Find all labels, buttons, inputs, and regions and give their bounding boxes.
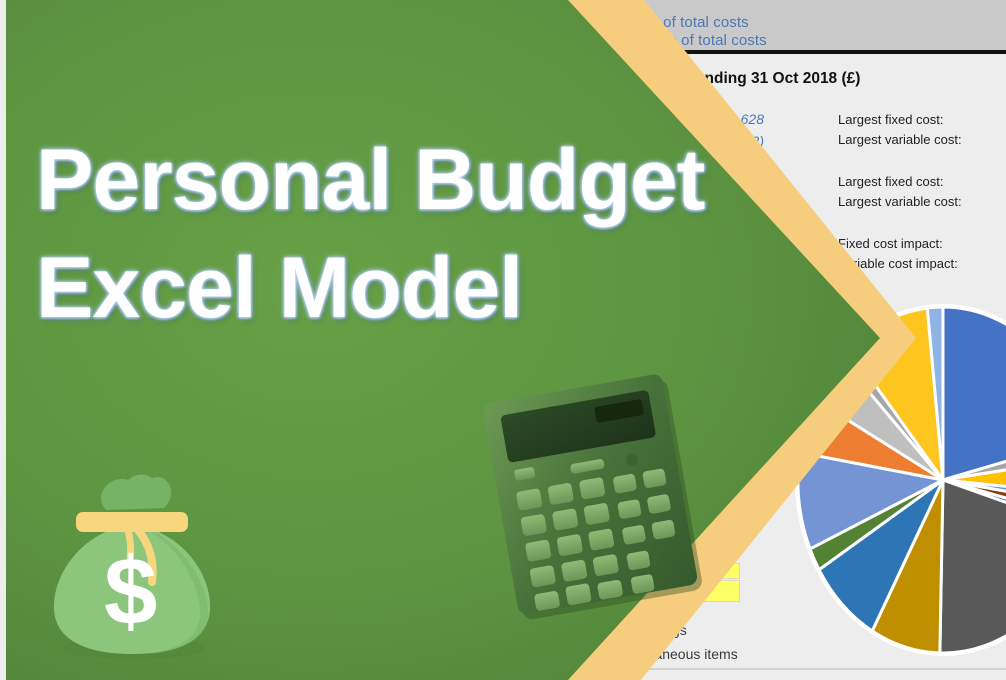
label-spacer [838, 212, 962, 234]
pie-chart-svg [795, 300, 1006, 660]
label-largest-fixed-cost-2: Largest fixed cost: [838, 172, 962, 192]
label-largest-fixed-cost-1: Largest fixed cost: [838, 110, 962, 130]
header-text-line-2: ...percentage of total costs [588, 32, 767, 49]
money-bag-icon: $ [46, 472, 218, 662]
excel-bottom-divider [0, 668, 1006, 670]
label-largest-variable-cost-2: Largest variable cost: [838, 192, 962, 212]
money-bag-knot [101, 474, 171, 510]
slide-canvas: ...centage of total costs ...percentage … [0, 0, 1006, 680]
title-line-2: Excel Model [36, 234, 704, 342]
label-miscellaneous-items: ...miscellaneous items [600, 646, 738, 662]
title-line-1: Personal Budget [36, 126, 704, 234]
label-largest-variable-cost-1: Largest variable cost: [838, 130, 962, 150]
pie-slice [940, 480, 1006, 653]
sheet-title: ...ults - month ending 31 Oct 2018 (£) [590, 70, 860, 88]
label-fixed-cost-impact: Fixed cost impact: [838, 234, 962, 254]
pie-slice-group [798, 307, 1006, 653]
pie-slice [943, 307, 1006, 480]
expenses-pie-chart [795, 300, 1006, 660]
excel-header-divider [0, 50, 1006, 54]
cost-labels-column: Largest fixed cost: Largest variable cos… [838, 110, 962, 274]
label-savings: ...to savings [612, 622, 687, 638]
calculator-icon [479, 366, 716, 629]
label-variable-cost-impact: Variable cost impact: [838, 254, 962, 274]
header-text-line-1: ...centage of total costs [592, 14, 749, 31]
dollar-sign-glyph: $ [104, 538, 157, 645]
excel-header-band [0, 0, 1006, 50]
label-spacer [838, 150, 962, 172]
page-title: Personal Budget Excel Model [36, 126, 704, 342]
money-bag-tie [76, 512, 188, 532]
